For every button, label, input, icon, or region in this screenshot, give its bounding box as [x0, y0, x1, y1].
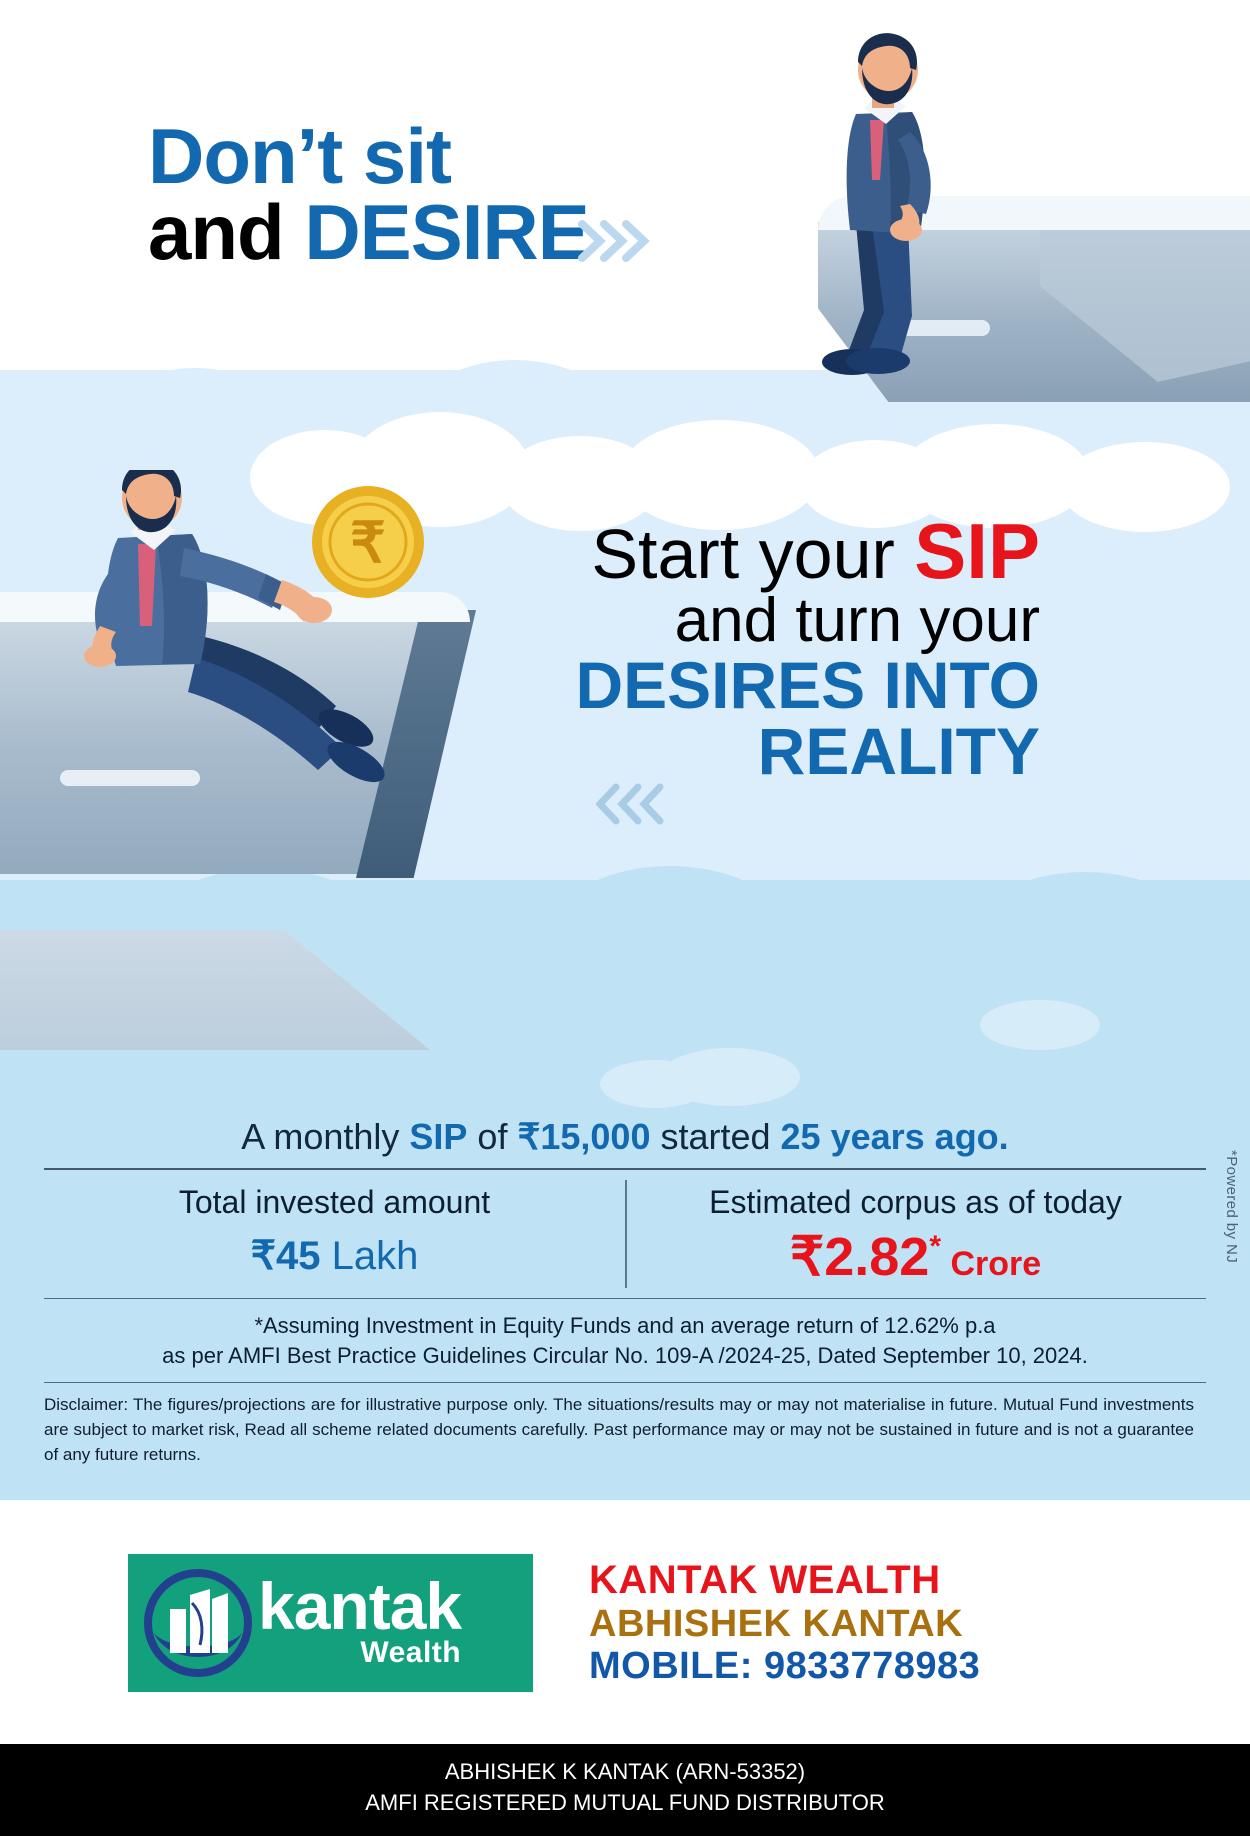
brand-company-name: KANTAK WEALTH — [589, 1558, 980, 1603]
assumption-note: *Assuming Investment in Equity Funds and… — [0, 1299, 1250, 1382]
kantak-chart-leaf-icon — [144, 1569, 252, 1677]
headline-main-row3: DESIRES INTO — [480, 652, 1040, 718]
assumption-line-2: as per AMFI Best Practice Guidelines Cir… — [60, 1341, 1190, 1371]
headline-top-line1: Don’t sit — [148, 118, 768, 194]
brand-person-name: ABHISHEK KANTAK — [589, 1603, 980, 1646]
stats-divider-mid — [44, 1298, 1206, 1299]
sip-text-amount: ₹15,000 — [517, 1116, 650, 1157]
invested-label: Total invested amount — [44, 1184, 625, 1221]
headline-top-desire: DESIRE — [304, 188, 588, 276]
footer-bar: ABHISHEK K KANTAK (ARN-53352) AMFI REGIS… — [0, 1744, 1250, 1836]
powered-by-label: *Powered by NJ — [1223, 1150, 1240, 1263]
headline-sip: SIP — [914, 507, 1040, 595]
headline-main: Start your SIP and turn your DESIRES INT… — [480, 512, 1040, 784]
headline-top-line2: and DESIRE — [148, 194, 768, 270]
stats-row: Total invested amount ₹45 Lakh Estimated… — [44, 1170, 1206, 1298]
sip-stats-block: A monthly SIP of ₹15,000 started 25 year… — [0, 1110, 1250, 1483]
corpus-asterisk: * — [929, 1230, 941, 1263]
kantak-logo-words: kantak Wealth — [258, 1576, 461, 1671]
sip-text-3: of — [467, 1116, 517, 1157]
sip-summary-line: A monthly SIP of ₹15,000 started 25 year… — [0, 1110, 1250, 1168]
corpus-unit: Crore — [941, 1245, 1041, 1283]
headline-start-your: Start your — [591, 515, 914, 593]
svg-text:₹: ₹ — [350, 511, 386, 574]
disclaimer-text: Disclaimer: The figures/projections are … — [0, 1383, 1250, 1483]
kantak-wordmark: kantak — [258, 1576, 461, 1637]
stat-cell-invested: Total invested amount ₹45 Lakh — [44, 1170, 625, 1298]
headline-main-row1: Start your SIP — [480, 512, 1040, 590]
brand-contact-block: KANTAK WEALTH ABHISHEK KANTAK MOBILE: 98… — [589, 1558, 980, 1688]
corpus-amount: ₹2.82 — [790, 1227, 929, 1287]
headline-main-row4: REALITY — [480, 718, 1040, 784]
headline-top-and: and — [148, 188, 304, 276]
invested-amount: ₹45 — [251, 1234, 321, 1278]
sip-text-years: 25 years ago. — [781, 1116, 1009, 1157]
chevron-double-left-icon — [596, 782, 666, 826]
sip-text-5: started — [650, 1116, 780, 1157]
corpus-label: Estimated corpus as of today — [625, 1184, 1206, 1221]
chevron-double-right-icon — [578, 218, 652, 264]
footer-line-1: ABHISHEK K KANTAK (ARN-53352) — [0, 1756, 1250, 1787]
headline-top: Don’t sit and DESIRE — [148, 118, 768, 271]
stat-cell-corpus: Estimated corpus as of today ₹2.82* Cror… — [625, 1170, 1206, 1298]
brand-row: kantak Wealth KANTAK WEALTH ABHISHEK KAN… — [0, 1528, 1250, 1718]
stats-vertical-divider — [625, 1180, 627, 1288]
illustration-seated-man — [760, 28, 1020, 378]
sip-text-1: A monthly — [241, 1116, 409, 1157]
brand-mobile[interactable]: MOBILE: 9833778983 — [589, 1645, 980, 1688]
invested-unit: Lakh — [321, 1234, 419, 1278]
kantak-logo: kantak Wealth — [128, 1554, 533, 1692]
footer-line-2: AMFI REGISTERED MUTUAL FUND DISTRIBUTOR — [0, 1787, 1250, 1818]
stats-divider-bottom — [44, 1382, 1206, 1383]
assumption-line-1: *Assuming Investment in Equity Funds and… — [60, 1311, 1190, 1341]
corpus-value: ₹2.82* Crore — [625, 1225, 1206, 1288]
sip-text-sip: SIP — [409, 1116, 467, 1157]
headline-main-row2: and turn your — [480, 590, 1040, 652]
rupee-coin-icon: ₹ — [308, 482, 428, 602]
poster-root: ₹ Don’t sit and DESIRE Start your SIP an… — [0, 0, 1250, 1836]
invested-value: ₹45 Lakh — [44, 1233, 625, 1279]
